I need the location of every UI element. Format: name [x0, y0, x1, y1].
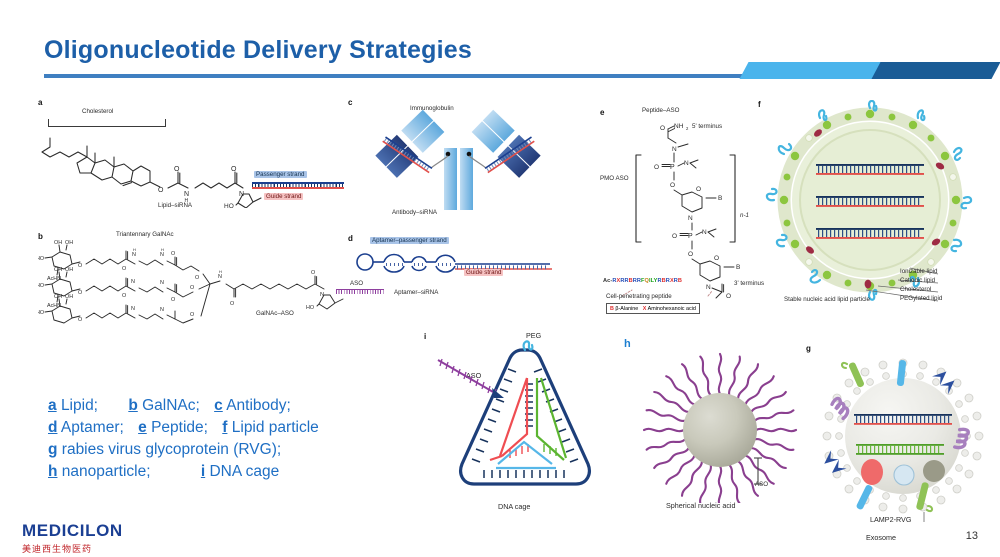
panel-i-dna-cage: i PEG ASO	[424, 330, 624, 525]
legend-cholesterol: Cholesterol	[900, 286, 931, 293]
legend-key-b: b	[128, 397, 137, 414]
cell-penetrating-peptide-sequence: Ac-RXRRBRRFQILYRBRXRB	[603, 278, 682, 284]
legend-key-h: h	[48, 463, 57, 480]
panel-c-caption: Antibody–siRNA	[392, 210, 437, 216]
svg-text:N: N	[684, 160, 689, 167]
panel-e-letter: e	[600, 108, 604, 117]
svg-text:N: N	[132, 252, 136, 258]
svg-text:N: N	[184, 191, 189, 198]
slide-number: 13	[966, 530, 978, 542]
panel-c-antibody: c Immunoglobulin	[348, 98, 568, 226]
panel-h-caption: Spherical nucleic acid	[666, 502, 736, 509]
svg-text:B: B	[736, 264, 740, 271]
svg-text:H: H	[219, 269, 222, 274]
key-x-text: Aminohexanoic acid	[648, 306, 696, 312]
svg-text:O: O	[171, 251, 175, 257]
svg-text:B: B	[718, 195, 722, 202]
legend-ionizable-lipid: Ionizable lipid	[900, 268, 938, 275]
exosome-diagram-icon	[806, 344, 1000, 534]
medicilon-logo: MEDICILON 美迪西生物医药	[22, 521, 123, 555]
peptide-aso-title: Peptide–ASO	[642, 108, 680, 114]
svg-text:O: O	[122, 293, 126, 299]
key-b-letter: B	[610, 306, 614, 312]
panel-h-aso-label: ASO	[755, 482, 768, 488]
svg-text:O: O	[195, 275, 199, 281]
brand-name-cn: 美迪西生物医药	[22, 542, 123, 555]
legend-key-e: e	[138, 419, 147, 436]
svg-text:N: N	[706, 284, 711, 291]
svg-text:O: O	[78, 317, 82, 323]
svg-text:O: O	[696, 186, 701, 193]
svg-text:O: O	[78, 263, 82, 269]
svg-text:O: O	[171, 297, 175, 303]
svg-text:O: O	[672, 233, 677, 240]
legend-key-f: f	[222, 419, 227, 436]
svg-text:N: N	[160, 280, 164, 286]
legend-cationic-lipid: Cationic lipid	[900, 277, 935, 284]
panel-g-exosome: g	[806, 344, 1000, 554]
legend-key-i: i	[201, 463, 205, 480]
panel-a-lipid: a Cholesterol	[38, 98, 358, 223]
svg-text:O: O	[78, 290, 82, 296]
svg-text:O: O	[230, 301, 234, 307]
guide-strand-label: Guide strand	[264, 194, 303, 200]
svg-text:O: O	[190, 285, 194, 291]
cholesterol-label: Cholesterol	[82, 109, 113, 115]
svg-text:NH: NH	[674, 123, 684, 130]
svg-text:N: N	[702, 229, 707, 236]
galnac-structure-icon: OH OH HO AcHN O OH OH HO AcHN O	[38, 239, 368, 325]
legend-label-i: DNA cage	[209, 463, 279, 480]
svg-text:O: O	[688, 251, 693, 258]
svg-text:HO: HO	[38, 283, 44, 289]
svg-text:HO: HO	[224, 203, 234, 208]
title-underline-rule	[44, 74, 744, 78]
svg-text:P: P	[670, 164, 675, 171]
legend-row-2: d Aptamer; e Peptide; f Lipid particle	[48, 417, 448, 439]
svg-text:N: N	[160, 307, 164, 313]
svg-text:H: H	[161, 247, 164, 252]
legend-label-b: GalNAc;	[142, 397, 200, 414]
svg-text:O: O	[158, 187, 164, 194]
svg-text:O: O	[122, 266, 126, 272]
spherical-nucleic-acid-icon	[624, 338, 824, 503]
panel-b-caption: GalNAc–ASO	[256, 311, 294, 317]
svg-text:O: O	[190, 312, 194, 318]
svg-text:N: N	[131, 306, 135, 312]
aptamer-passenger-strand-label: Aptamer–passenger strand	[370, 238, 449, 244]
legend-row-1: a Lipid; b GalNAc; c Antibody;	[48, 395, 448, 417]
snalp-diagram-icon	[758, 100, 1000, 310]
svg-text:HO: HO	[306, 305, 314, 311]
svg-text:OH: OH	[65, 294, 73, 300]
passenger-strand-label: Passenger strand	[254, 172, 307, 178]
legend-label-h: nanoparticle;	[62, 463, 151, 480]
svg-text:N: N	[688, 215, 693, 222]
figure-legend: a Lipid; b GalNAc; c Antibody; d Aptamer…	[48, 395, 448, 483]
svg-text:OH: OH	[54, 267, 62, 273]
legend-label-c: Antibody;	[226, 397, 291, 414]
panel-i-caption: DNA cage	[498, 503, 530, 510]
panel-g-caption: Exosome	[866, 534, 896, 541]
page-title: Oligonucleotide Delivery Strategies	[44, 36, 472, 65]
panel-d-aptamer: d Aptamer–passenger strand	[348, 234, 568, 324]
legend-label-e: Peptide;	[151, 419, 208, 436]
key-b-text: β-Alanine	[615, 306, 638, 312]
brand-name-en: MEDICILON	[22, 521, 123, 541]
svg-text:H: H	[133, 247, 136, 252]
antibody-diagram-icon	[348, 106, 568, 226]
svg-text:O: O	[231, 166, 237, 173]
svg-text:N: N	[131, 279, 135, 285]
legend-label-g: rabies virus glycoprotein (RVG);	[62, 441, 281, 458]
legend-label-a: Lipid;	[61, 397, 98, 414]
legend-key-d: d	[48, 419, 57, 436]
aptamer-sirna-icon	[354, 248, 564, 284]
legend-key-c: c	[214, 397, 223, 414]
panel-h-nanoparticle: h	[624, 338, 824, 523]
svg-text:O: O	[654, 164, 659, 171]
panel-a-letter: a	[38, 98, 42, 107]
header-banner-dark	[871, 62, 1000, 79]
panel-d-caption: Aptamer–siRNA	[394, 290, 438, 296]
legend-pegylated-lipid: PEGylated lipid	[900, 295, 942, 302]
legend-label-d: Aptamer;	[61, 419, 124, 436]
panel-f-lipid-particle: f	[758, 100, 1000, 320]
dna-cage-icon	[424, 338, 624, 513]
svg-text:AcHN: AcHN	[47, 276, 61, 282]
legend-row-3: g rabies virus glycoprotein (RVG);	[48, 439, 448, 461]
legend-key-g: g	[48, 441, 57, 458]
panel-e-peptide: e Peptide–ASO 5' terminus PMO ASO n-1 3'…	[600, 108, 765, 313]
panel-d-guide-strand-label: Guide strand	[464, 270, 503, 276]
svg-text:HO: HO	[38, 256, 44, 262]
svg-text:O: O	[660, 125, 665, 132]
svg-text:HO: HO	[38, 310, 44, 316]
svg-text:OH: OH	[65, 267, 73, 273]
svg-text:N: N	[218, 274, 222, 280]
svg-text:O: O	[670, 182, 675, 189]
svg-text:N: N	[160, 252, 164, 258]
svg-text:O: O	[311, 270, 315, 276]
cell-penetrating-peptide-label: Cell-penetrating peptide	[606, 294, 672, 300]
panel-d-letter: d	[348, 234, 353, 243]
svg-text:AcHN: AcHN	[47, 303, 61, 309]
svg-text:O: O	[726, 293, 731, 300]
legend-key-a: a	[48, 397, 57, 414]
peptide-residue-key: B β-Alanine X Aminohexanoic acid	[606, 303, 700, 314]
lamp2-rvg-label: LAMP2-RVG	[870, 516, 911, 523]
legend-row-4: h nanoparticle; i DNA cage	[48, 461, 448, 483]
sequence-prefix: Ac-	[603, 278, 612, 284]
panel-a-caption: Lipid–siRNA	[158, 203, 192, 209]
svg-text:OH: OH	[54, 240, 62, 246]
svg-text:2: 2	[686, 126, 689, 131]
legend-label-f: Lipid particle	[232, 419, 319, 436]
slide-canvas: Oligonucleotide Delivery Strategies a Ch…	[0, 0, 1000, 557]
key-x-letter: X	[643, 306, 647, 312]
svg-text:P: P	[688, 233, 693, 240]
svg-text:N: N	[672, 146, 677, 153]
svg-text:O: O	[714, 255, 719, 262]
panel-a-sirna-duplex	[252, 182, 344, 189]
cholesterol-structure-icon: O O N H O N HO	[38, 122, 268, 208]
panel-f-caption: Stable nucleic acid lipid particle	[784, 297, 870, 303]
svg-text:OH: OH	[65, 240, 73, 246]
svg-text:O: O	[174, 166, 180, 173]
triantennary-galnac-label: Triantennary GalNAc	[116, 232, 174, 238]
svg-text:OH: OH	[54, 294, 62, 300]
panel-b-galnac: b Triantennary GalNAc OH OH HO AcHN O	[38, 232, 368, 324]
